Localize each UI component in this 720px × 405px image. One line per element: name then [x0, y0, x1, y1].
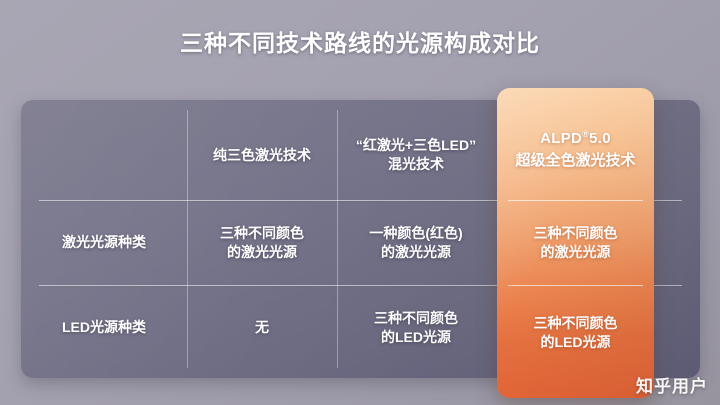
- highlight-column-alpd[interactable]: ALPD®5.0 超级全色激光技术 三种不同颜色 的激光光源 三种不同颜色 的L…: [497, 88, 654, 398]
- cell-r2-c2: 三种不同颜色 的LED光源: [337, 285, 495, 370]
- alpd-brand-version: ALPD®5.0: [540, 129, 611, 149]
- cell-r1-c2: 一种颜色(红色) 的激光光源: [337, 200, 495, 285]
- alpd-subtitle: 超级全色激光技术: [515, 151, 635, 171]
- registered-trademark-icon: ®: [582, 129, 589, 139]
- row-label-laser-types: 激光光源种类: [21, 200, 187, 285]
- page-title: 三种不同技术路线的光源构成对比: [0, 24, 720, 58]
- column-header-pure-laser: 纯三色激光技术: [187, 110, 337, 200]
- highlight-cell-r2: 三种不同颜色 的LED光源: [497, 285, 654, 380]
- table-corner-cell: [21, 110, 187, 200]
- slide-canvas: 三种不同技术路线的光源构成对比 纯三色激光技术 “红激光+三色LED” 混光技术…: [0, 0, 720, 405]
- row-label-led-types: LED光源种类: [21, 285, 187, 370]
- cell-r2-c1: 无: [187, 285, 337, 370]
- highlight-column-header: ALPD®5.0 超级全色激光技术: [497, 100, 654, 200]
- watermark: 知乎用户: [636, 372, 708, 397]
- column-header-hybrid: “红激光+三色LED” 混光技术: [337, 110, 495, 200]
- cell-r1-c1: 三种不同颜色 的激光光源: [187, 200, 337, 285]
- highlight-cell-r1: 三种不同颜色 的激光光源: [497, 200, 654, 285]
